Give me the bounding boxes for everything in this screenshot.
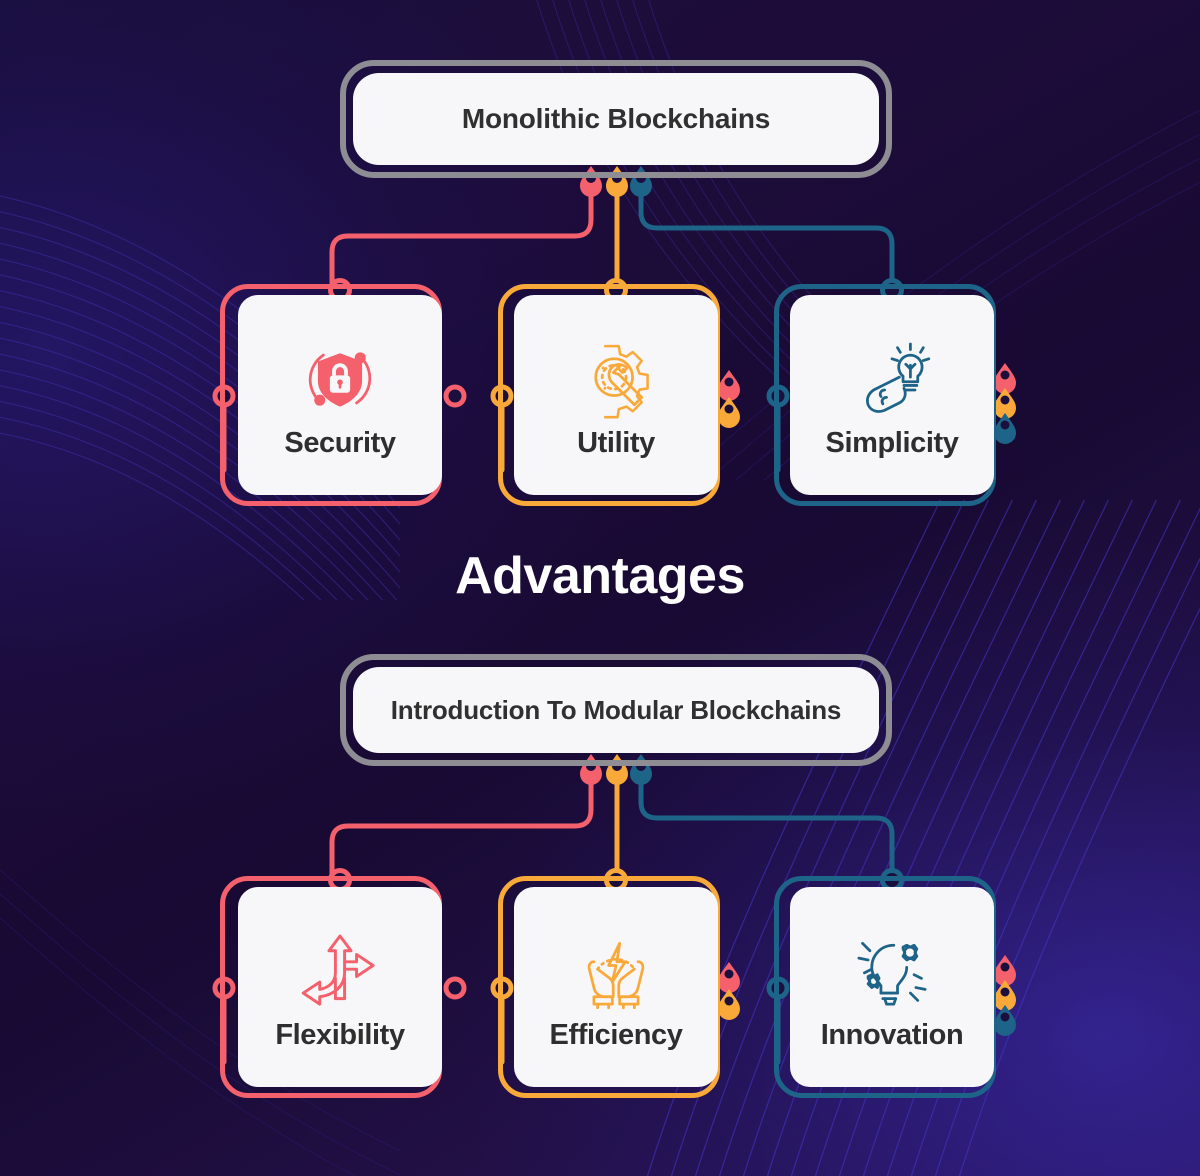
wire-innovation <box>641 770 892 880</box>
card-label-simplicity: Simplicity <box>826 429 959 458</box>
header-title-monolithic: Monolithic Blockchains <box>462 103 770 135</box>
card-label-efficiency: Efficiency <box>550 1021 683 1050</box>
pin-stack-innovation-right <box>994 955 1016 1036</box>
card-innovation[interactable]: Innovation <box>790 887 994 1087</box>
hand-pointing-lightbulb-icon <box>846 333 938 425</box>
pin-stack-efficiency-right <box>718 962 740 1020</box>
pin-stack-utility-right <box>718 370 740 428</box>
orbit-dot-bottom <box>314 394 325 405</box>
infographic-canvas: Monolithic Blockchains Security <box>0 0 1200 1176</box>
wrench-glyph <box>609 364 642 404</box>
header-box-modular: Introduction To Modular Blockchains <box>340 654 892 766</box>
node-flexibility-right <box>446 979 464 997</box>
node-security-right <box>446 387 464 405</box>
pin-stack-simplicity-right <box>994 363 1016 444</box>
card-label-innovation: Innovation <box>821 1021 964 1050</box>
gear-wrench-icon <box>570 333 662 425</box>
card-simplicity[interactable]: Simplicity <box>790 295 994 495</box>
wire-simplicity <box>641 182 892 290</box>
shield-lock-orbit-icon <box>294 333 386 425</box>
header-inner-modular: Introduction To Modular Blockchains <box>353 667 879 753</box>
card-label-utility: Utility <box>577 429 655 458</box>
section-title-advantages: Advantages <box>0 546 1200 606</box>
three-way-arrow-icon <box>294 925 386 1017</box>
header-title-modular: Introduction To Modular Blockchains <box>391 695 841 726</box>
wire-flexibility <box>332 770 591 880</box>
hands-lightning-bolt-icon <box>570 925 662 1017</box>
card-label-security: Security <box>284 429 395 458</box>
card-security[interactable]: Security <box>238 295 442 495</box>
lightbulb-gears-icon <box>846 925 938 1017</box>
header-inner-monolithic: Monolithic Blockchains <box>353 73 879 165</box>
card-label-flexibility: Flexibility <box>275 1021 404 1050</box>
header-box-monolithic: Monolithic Blockchains <box>340 60 892 178</box>
wire-security <box>332 182 591 290</box>
card-utility[interactable]: Utility <box>514 295 718 495</box>
card-flexibility[interactable]: Flexibility <box>238 887 442 1087</box>
card-efficiency[interactable]: Efficiency <box>514 887 718 1087</box>
